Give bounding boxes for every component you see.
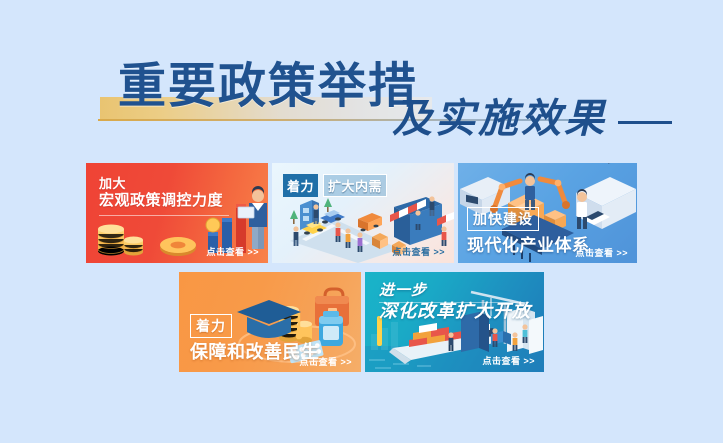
cta-link[interactable]: 点击查看 >> (482, 354, 535, 367)
card-modern-industrial-system[interactable]: 加快建设 现代化产业体系 点击查看 >> (458, 163, 637, 263)
card-title: 加大 宏观政策调控力度 (99, 175, 223, 209)
page-subtitle: 及实施效果 (392, 98, 607, 140)
card-deepen-reform-open-up[interactable]: 进一步 深化改革扩大开放 点击查看 >> (365, 272, 544, 372)
card-tag: 加快建设 (467, 207, 539, 231)
card-tag: 着力 (283, 174, 318, 197)
card-title-line2: 宏观政策调控力度 (99, 192, 223, 209)
cta-link[interactable]: 点击查看 >> (206, 245, 259, 258)
card-title: 现代化产业体系 (467, 231, 590, 256)
card-title-line2: 深化改革扩大开放 (379, 301, 531, 321)
title-divider (99, 215, 229, 216)
cta-link[interactable]: 点击查看 >> (575, 246, 628, 259)
card-improve-peoples-livelihood[interactable]: 着力 保障和改善民生 点击查看 >> (179, 272, 361, 372)
card-title: 扩大内需 (323, 174, 387, 197)
page-header: 重要政策举措 及实施效果 (0, 0, 723, 150)
card-tag: 着力 (190, 314, 232, 338)
card-macro-policy-regulation[interactable]: 加大 宏观政策调控力度 点击查看 >> (86, 163, 268, 263)
cta-link[interactable]: 点击查看 >> (392, 245, 445, 258)
card-title-line1: 加大 (99, 176, 126, 191)
card-expand-domestic-demand[interactable]: 着力 扩大内需 点击查看 >> (272, 163, 454, 263)
title-end-rule (618, 121, 672, 124)
page-title: 重要政策举措 (118, 62, 418, 112)
cta-link[interactable]: 点击查看 >> (299, 355, 352, 368)
title-divider (379, 302, 529, 303)
card-title-line1: 进一步 (379, 282, 427, 299)
